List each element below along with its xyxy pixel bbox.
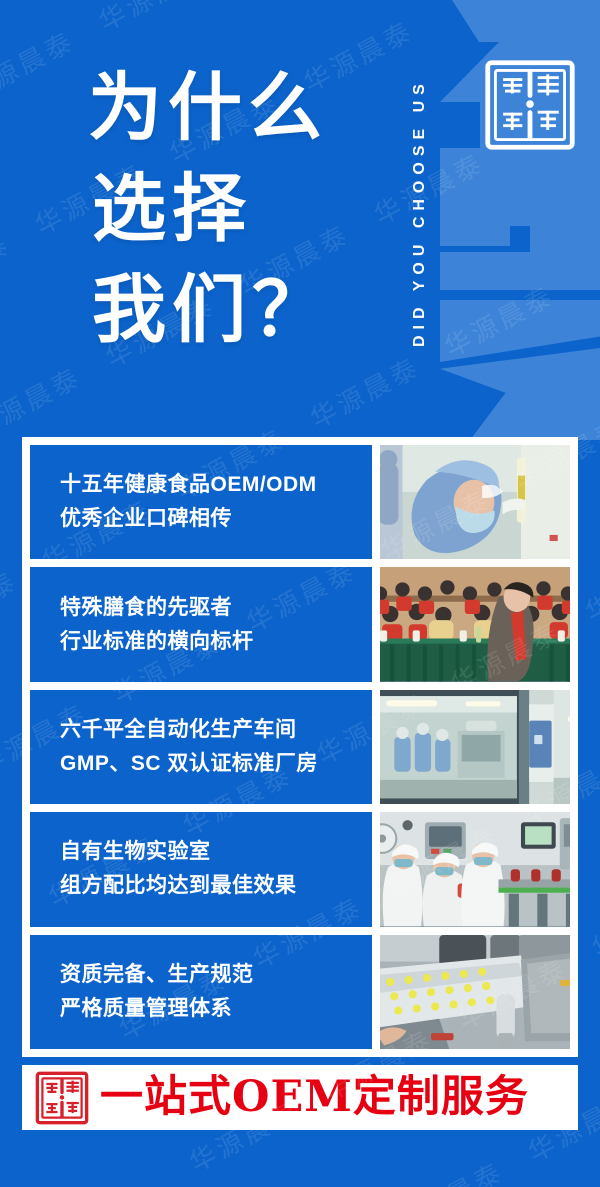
- feature-card-text: 资质完备、生产规范 严格质量管理体系: [30, 935, 372, 1049]
- feature-line-2: 行业标准的横向标杆: [60, 625, 372, 659]
- feature-line-2: 严格质量管理体系: [60, 992, 372, 1026]
- feature-line-1: 十五年健康食品OEM/ODM: [60, 468, 372, 502]
- feature-card-text: 十五年健康食品OEM/ODM 优秀企业口碑相传: [30, 445, 372, 559]
- cta-text: 一站式OEM定制服务: [100, 1076, 529, 1119]
- feature-card: 十五年健康食品OEM/ODM 优秀企业口碑相传: [30, 445, 570, 559]
- feature-line-1: 自有生物实验室: [60, 835, 372, 869]
- feature-line-2: GMP、SC 双认证标准厂房: [60, 747, 372, 781]
- tablet-blister-packing-photo: [380, 935, 570, 1049]
- promo-poster: 为什么 选择 我们？ DID YOU CHOOSE US: [0, 0, 600, 1187]
- lab-technician-photo: [380, 445, 570, 559]
- production-line-workers-photo: [380, 812, 570, 926]
- feature-line-2: 优秀企业口碑相传: [60, 502, 372, 536]
- watermark-text: 华源晨泰: [0, 561, 24, 650]
- watermark-text: 华源晨泰: [584, 876, 600, 965]
- feature-line-1: 资质完备、生产规范: [60, 958, 372, 992]
- feature-card: 自有生物实验室 组方配比均达到最佳效果: [30, 812, 570, 926]
- cleanroom-corridor-photo: [380, 690, 570, 804]
- feature-card: 六千平全自动化生产车间 GMP、SC 双认证标准厂房: [30, 690, 570, 804]
- headline-line-2: 选择: [92, 159, 332, 260]
- company-seal-red-icon: [34, 1070, 90, 1126]
- feature-card-text: 六千平全自动化生产车间 GMP、SC 双认证标准厂房: [30, 690, 372, 804]
- feature-line-2: 组方配比均达到最佳效果: [60, 869, 372, 903]
- feature-card-text: 自有生物实验室 组方配比均达到最佳效果: [30, 812, 372, 926]
- vertical-english-subtitle: DID YOU CHOOSE US: [404, 22, 436, 404]
- watermark-text: 华源晨泰: [578, 540, 600, 629]
- page-title: 为什么 选择 我们？: [88, 58, 332, 361]
- poster-header: 为什么 选择 我们？ DID YOU CHOOSE US: [0, 0, 600, 430]
- feature-line-1: 特殊膳食的先驱者: [60, 591, 372, 625]
- watermark-text: 华源晨泰: [387, 1151, 510, 1187]
- feature-card: 资质完备、生产规范 严格质量管理体系: [30, 935, 570, 1049]
- conference-audience-photo: [380, 567, 570, 681]
- feature-card: 特殊膳食的先驱者 行业标准的横向标杆: [30, 567, 570, 681]
- feature-card-text: 特殊膳食的先驱者 行业标准的横向标杆: [30, 567, 372, 681]
- headline-line-1: 为什么: [88, 58, 332, 159]
- company-seal-logo-icon: [482, 57, 578, 153]
- feature-line-1: 六千平全自动化生产车间: [60, 713, 372, 747]
- feature-cards-panel: 十五年健康食品OEM/ODM 优秀企业口碑相传: [22, 437, 578, 1057]
- bottom-cta-banner: 一站式OEM定制服务: [22, 1065, 578, 1130]
- headline-line-3: 我们？: [92, 260, 332, 361]
